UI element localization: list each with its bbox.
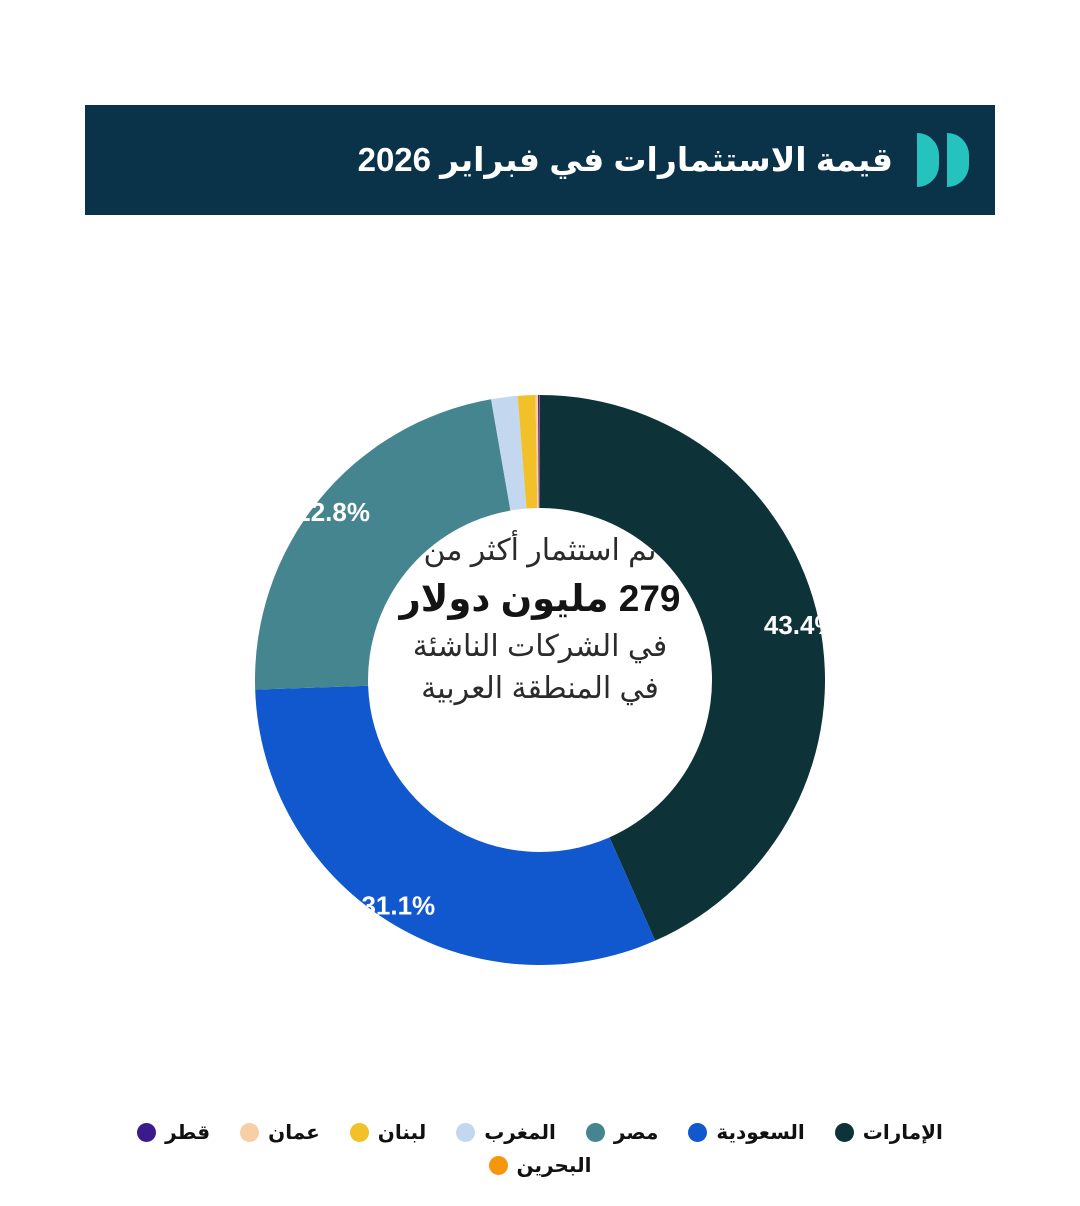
- legend-item-label: عمان: [268, 1120, 320, 1145]
- legend-item-label: البحرين: [517, 1153, 592, 1178]
- legend-row: الإماراتالسعوديةمصرالمغربلبنانعمانقطر: [0, 1120, 1080, 1145]
- legend-color-swatch-icon: [240, 1123, 259, 1142]
- legend-color-swatch-icon: [137, 1123, 156, 1142]
- logo-half-right: [947, 133, 969, 187]
- legend-item-label: السعودية: [716, 1120, 804, 1145]
- legend-item-label: المغرب: [484, 1120, 556, 1145]
- legend-item[interactable]: السعودية: [688, 1120, 804, 1145]
- legend-item-label: قطر: [165, 1120, 210, 1145]
- donut-slice-percent-label: 43.4%: [764, 610, 838, 640]
- legend-item[interactable]: الإمارات: [835, 1120, 943, 1145]
- logo-half-left: [917, 133, 939, 187]
- legend-color-swatch-icon: [688, 1123, 707, 1142]
- header-band: قيمة الاستثمارات في فبراير 2026: [85, 105, 995, 215]
- legend-color-swatch-icon: [489, 1156, 508, 1175]
- donut-slice[interactable]: [255, 686, 655, 965]
- donut-slice-percent-label: 31.1%: [361, 891, 435, 921]
- legend-item-label: لبنان: [378, 1120, 426, 1145]
- legend-row: البحرين: [0, 1153, 1080, 1178]
- legend-item[interactable]: عمان: [240, 1120, 320, 1145]
- legend-item-label: الإمارات: [863, 1120, 943, 1145]
- legend-item[interactable]: المغرب: [456, 1120, 556, 1145]
- legend-color-swatch-icon: [350, 1123, 369, 1142]
- legend-color-swatch-icon: [835, 1123, 854, 1142]
- donut-chart-svg: 43.4%31.1%22.8%: [0, 230, 1080, 1120]
- legend-item[interactable]: البحرين: [489, 1153, 592, 1178]
- legend-item[interactable]: قطر: [137, 1120, 210, 1145]
- legend-item[interactable]: لبنان: [350, 1120, 426, 1145]
- donut-chart: 43.4%31.1%22.8% تم استثمار أكثر من 279 م…: [0, 230, 1080, 1120]
- donut-slice[interactable]: [255, 399, 510, 689]
- legend-color-swatch-icon: [456, 1123, 475, 1142]
- legend-item[interactable]: مصر: [586, 1120, 659, 1145]
- chart-legend: الإماراتالسعوديةمصرالمغربلبنانعمانقطرالب…: [0, 1120, 1080, 1186]
- legend-item-label: مصر: [614, 1120, 659, 1145]
- page-title: قيمة الاستثمارات في فبراير 2026: [107, 140, 893, 180]
- donut-slices: [255, 395, 825, 965]
- donut-slice-percent-label: 22.8%: [296, 497, 370, 527]
- legend-color-swatch-icon: [586, 1123, 605, 1142]
- double-d-logo-icon: [911, 129, 973, 191]
